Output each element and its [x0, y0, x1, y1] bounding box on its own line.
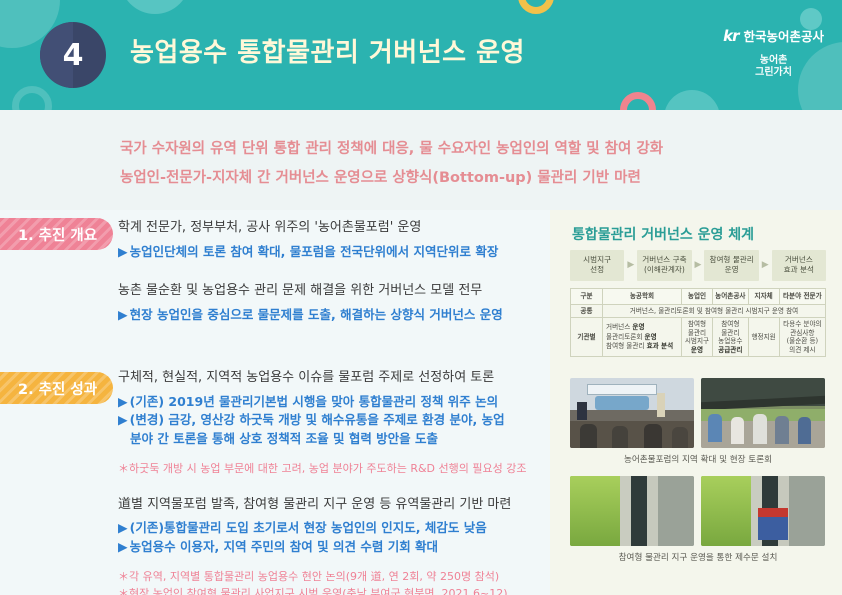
results-text-2: 道별 지역물포럼 발족, 참여형 물관리 지구 운영 등 유역물관리 기반 마련 — [118, 495, 553, 515]
deco-circle-3 — [664, 90, 720, 110]
table-header-cell: 지자체 — [748, 289, 779, 305]
arrow-icon: ▶ — [118, 520, 128, 535]
section-body-overview: 학계 전문가, 정부부처, 공사 위주의 '농어촌물포럼' 운영 ▶농업인단체의… — [118, 218, 548, 324]
results-bullet-3: ▶(기존)통합물관리 도입 초기로서 현장 농업인의 인지도, 체감도 낮음 — [118, 519, 553, 538]
right-diagram-column: 통합물관리 거버넌스 운영 체계 시범지구 선정 ▶ 거버넌스 구축 (이해관계… — [550, 210, 842, 595]
table-header-cell: 타분야 전문가 — [779, 289, 825, 305]
governance-flow-diagram: 시범지구 선정 ▶ 거버넌스 구축 (이해관계자) ▶ 참여형 물관리 운영 ▶… — [570, 250, 826, 281]
overview-text-1: 학계 전문가, 정부부처, 공사 위주의 '농어촌물포럼' 운영 — [118, 218, 548, 238]
logo-company-name: 한국농어촌공사 — [743, 26, 824, 45]
photo-caption-forum: 농어촌물포럼의 지역 확대 및 현장 토론회 — [570, 453, 826, 465]
results-note-1: ＊하굿둑 개방 시 농업 부문에 대한 고려, 농업 분야가 주도하는 R&D … — [118, 461, 553, 478]
flow-step-1: 시범지구 선정 — [570, 250, 624, 281]
slide-root: 4 농업용수 통합물관리 거버넌스 운영 kr 한국농어촌공사 농어촌 그린가치… — [0, 0, 842, 595]
photo-caption-canal: 참여형 물관리 지구 운영을 통한 제수문 설치 — [570, 551, 826, 563]
section-number-badge: 4 — [40, 22, 106, 88]
table-row-common: 공통 거버넌스, 물관리토론회 및 참여형 물관리 시범지구 운영 참여 — [571, 304, 826, 318]
table-header-row: 구분 농공학회 농업인 농어촌공사 지자체 타분야 전문가 — [571, 289, 826, 305]
role-cell-jijache: 행정지원 — [748, 318, 779, 357]
photo-group-canal: 참여형 물관리 지구 운영을 통한 제수문 설치 — [570, 476, 826, 563]
role-cell-nonggonghakhoe: 거버넌스 운영물관리토론회 운영참여형 물관리 효과 분석 — [603, 318, 682, 357]
subtitle-line-1: 국가 수자원의 유역 단위 통합 관리 정책에 대응, 물 수요자인 농업인의 … — [120, 137, 663, 158]
role-cell-nongeochon: 참여형물관리농업용수공급관리 — [713, 318, 748, 357]
overview-text-2: 농촌 물순환 및 농업용수 관리 문제 해결을 위한 거버넌스 모델 전무 — [118, 281, 548, 301]
section-number: 4 — [63, 38, 84, 73]
arrow-icon: ▶ — [118, 539, 128, 554]
photo-group-forum: 농어촌물포럼의 지역 확대 및 현장 토론회 — [570, 378, 826, 465]
flow-step-3: 참여형 물관리 운영 — [704, 250, 758, 281]
flow-arrow-icon: ▶ — [759, 260, 772, 270]
deco-ring-teal-left — [12, 86, 52, 110]
table-row-label: 공통 — [571, 304, 603, 318]
results-bullet-4: ▶농업용수 이용자, 지역 주민의 참여 및 의견 수렴 기회 확대 — [118, 538, 553, 557]
left-content-column: 1. 추진 개요 학계 전문가, 정부부처, 공사 위주의 '농어촌물포럼' 운… — [0, 210, 550, 595]
arrow-icon: ▶ — [118, 412, 128, 427]
table-header-cell: 농업인 — [681, 289, 712, 305]
arrow-icon: ▶ — [118, 394, 128, 409]
governance-roles-table: 구분 농공학회 농업인 농어촌공사 지자체 타분야 전문가 공통 거버넌스, 물… — [570, 288, 826, 357]
role-cell-expert: 타용수 분야의관심사항(물순환 등)의견 제시 — [779, 318, 825, 357]
flow-arrow-icon: ▶ — [624, 260, 637, 270]
overview-bullet-1: ▶농업인단체의 토론 참여 확대, 물포럼을 전국단위에서 지역단위로 확장 — [118, 243, 548, 262]
arrow-icon: ▶ — [118, 307, 128, 322]
section-body-results: 구체적, 현실적, 지역적 농업용수 이슈를 물포럼 주제로 선정하여 토론 ▶… — [118, 368, 553, 595]
irrigation-canal-gate-photo — [701, 476, 825, 546]
deco-ring-pink — [620, 92, 656, 110]
table-row-roles: 기관별 거버넌스 운영물관리토론회 운영참여형 물관리 효과 분석 참여형물관리… — [571, 318, 826, 357]
deco-circle-2 — [120, 0, 190, 14]
logo-slogan-line2: 그린가치 — [723, 67, 824, 79]
overview-bullet-2: ▶현장 농업인을 중심으로 물문제를 도출, 해결하는 상향식 거버넌스 운영 — [118, 306, 548, 325]
logo-kr-mark: kr — [723, 27, 738, 45]
deco-ring-yellow — [518, 0, 554, 14]
outdoor-tent-meeting-photo — [701, 378, 825, 448]
role-cell-nongeobin: 참여형물관리시범지구운영 — [681, 318, 712, 357]
arrow-icon: ▶ — [118, 244, 128, 259]
section-tab-results-label: 2. 추진 성과 — [18, 378, 97, 399]
table-header-cell: 구분 — [571, 289, 603, 305]
table-row-label: 기관별 — [571, 318, 603, 357]
subtitle-line-2: 농업인-전문가-지자체 간 거버넌스 운영으로 상향식(Bottom-up) 물… — [120, 166, 641, 187]
subtitle-band: 국가 수자원의 유역 단위 통합 관리 정책에 대응, 물 수요자인 농업인의 … — [0, 110, 842, 210]
section-tab-overview[interactable]: 1. 추진 개요 — [0, 218, 113, 250]
results-bullet-2-cont: 분야 간 토론을 통해 상호 정책적 조율 및 협력 방안을 도출 — [118, 430, 553, 449]
flow-step-4: 거버넌스 효과 분석 — [772, 250, 826, 281]
section-tab-results[interactable]: 2. 추진 성과 — [0, 372, 113, 404]
table-common-value: 거버넌스, 물관리토론회 및 참여형 물관리 시범지구 운영 참여 — [603, 304, 826, 318]
seminar-room-photo — [570, 378, 694, 448]
logo-slogan-line1: 농어촌 — [723, 55, 824, 67]
slide-header: 4 농업용수 통합물관리 거버넌스 운영 kr 한국농어촌공사 농어촌 그린가치 — [0, 0, 842, 110]
section-tab-overview-label: 1. 추진 개요 — [18, 224, 97, 245]
results-bullet-1: ▶(기존) 2019년 물관리기본법 시행을 맞아 통합물관리 정책 위주 논의 — [118, 393, 553, 412]
flow-arrow-icon: ▶ — [692, 260, 705, 270]
table-header-cell: 농어촌공사 — [713, 289, 748, 305]
company-logo: kr 한국농어촌공사 농어촌 그린가치 — [723, 26, 824, 78]
page-title: 농업용수 통합물관리 거버넌스 운영 — [130, 32, 525, 69]
table-header-cell: 농공학회 — [603, 289, 682, 305]
irrigation-canal-before-photo — [570, 476, 694, 546]
flow-step-2: 거버넌스 구축 (이해관계자) — [637, 250, 691, 281]
results-note-3: ＊현장 농업인 참여형 물관리 사업지구 시범 운영(충남 부여군 현북면, 2… — [118, 586, 553, 595]
results-text-1: 구체적, 현실적, 지역적 농업용수 이슈를 물포럼 주제로 선정하여 토론 — [118, 368, 553, 388]
results-bullet-2: ▶(변경) 금강, 영산강 하굿둑 개방 및 해수유통을 주제로 환경 분야, … — [118, 411, 553, 430]
diagram-title: 통합물관리 거버넌스 운영 체계 — [572, 224, 754, 244]
results-note-2: ＊각 유역, 지역별 통합물관리 농업용수 현안 논의(9개 道, 연 2회, … — [118, 569, 553, 586]
